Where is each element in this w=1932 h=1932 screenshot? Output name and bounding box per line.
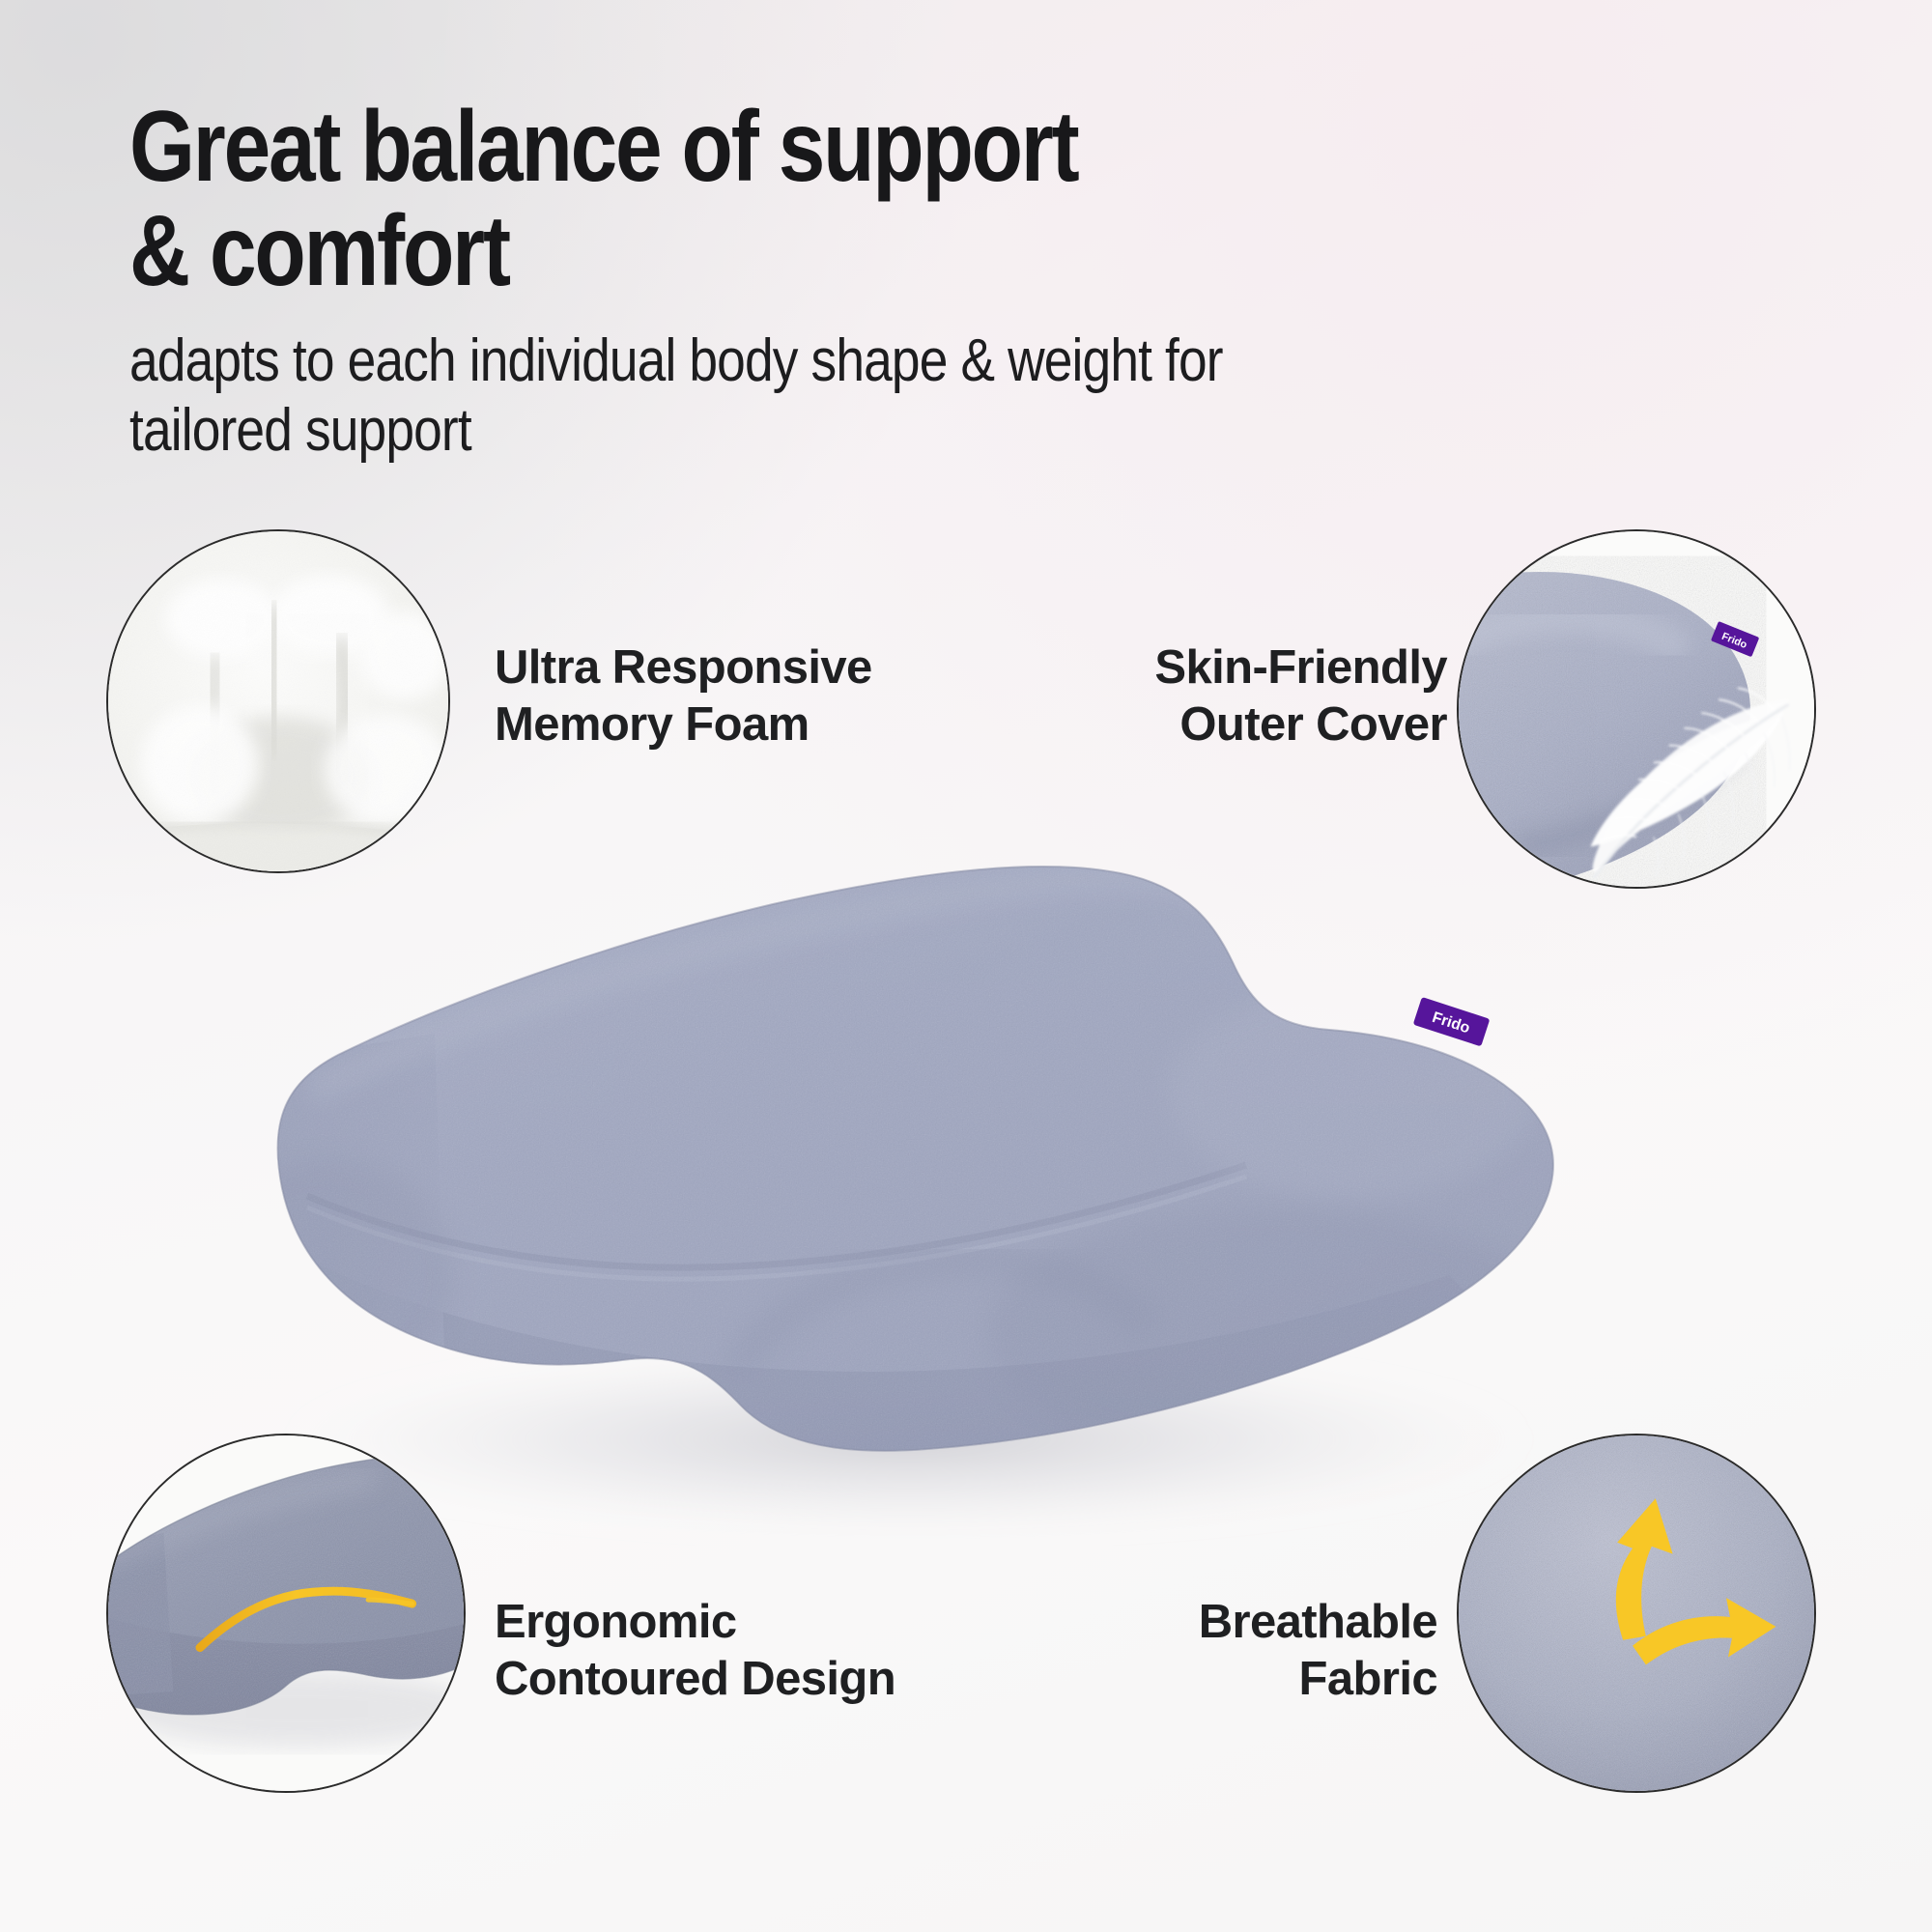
product-hero-image: Frido [193, 773, 1758, 1546]
feature-label-outer-cover: Skin-Friendly Outer Cover [993, 639, 1447, 753]
thumbnail-ergonomic-contour [106, 1434, 466, 1793]
thumbnail-memory-foam [106, 529, 450, 873]
brand-tag: Frido [1413, 997, 1491, 1046]
feature-label-breathable-fabric: Breathable Fabric [1022, 1594, 1437, 1708]
product-infographic-page: Great balance of support & comfort adapt… [0, 0, 1932, 1932]
thumbnail-outer-cover-feather: Frido [1457, 529, 1816, 889]
thumbnail-breathable-fabric [1457, 1434, 1816, 1793]
feature-label-ergonomic-design: Ergonomic Contoured Design [495, 1594, 958, 1708]
page-subheadline: adapts to each individual body shape & w… [129, 327, 1475, 466]
page-headline: Great balance of support & comfort [129, 95, 1314, 303]
feature-label-memory-foam: Ultra Responsive Memory Foam [495, 639, 910, 753]
